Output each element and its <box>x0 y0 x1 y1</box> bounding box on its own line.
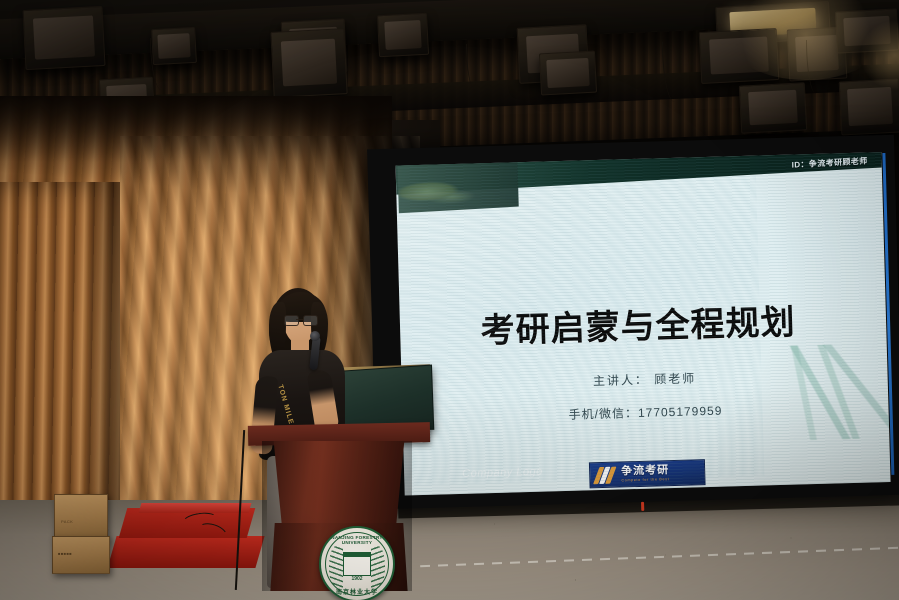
slide-brand-logo: 争流考研 Compete for the Best <box>589 459 706 488</box>
stage-light-4 <box>270 28 347 98</box>
stage-light-5 <box>377 13 429 58</box>
emblem-building-icon <box>343 552 371 576</box>
brand-logo-mark-icon <box>595 466 617 485</box>
screen-indicator-led <box>641 502 644 511</box>
university-emblem: NANJING FORESTRY UNIVERSITY 1902 南京林业大学 <box>319 526 395 600</box>
stage-light-8 <box>835 8 899 53</box>
slide-watermark: Company Logo <box>462 466 543 480</box>
cardboard-box-lower: ■■■■■ <box>52 536 110 574</box>
slide-bamboo-graphic <box>747 343 891 442</box>
step-carpet-edge <box>139 503 252 513</box>
stage-light-10 <box>739 82 807 133</box>
stage-step-lower <box>107 536 264 568</box>
stage-light-1 <box>22 6 105 70</box>
led-screen-frame: ID：争流考研顾老师 考研启蒙与全程规划 主讲人： 顾老师 手机/微信：1770… <box>367 135 899 510</box>
microphone-head <box>310 331 320 341</box>
moving-head-light-1 <box>539 51 597 96</box>
stage-presentation-photo: PACK ■■■■■ ID：争流考研顾老师 考研启蒙与全程规划 主讲人： 顾老师… <box>0 0 899 600</box>
eyeglasses <box>283 315 317 324</box>
emblem-arc-text: NANJING FORESTRY UNIVERSITY <box>321 535 393 545</box>
slide-header-leaf-photo <box>398 159 519 214</box>
brand-logo-cn: 争流考研 <box>621 465 669 477</box>
emblem-chinese-name: 南京林业大学 <box>321 587 393 596</box>
stage-light-7 <box>699 28 780 84</box>
brand-logo-en: Compete for the Best <box>621 478 669 483</box>
podium-body <box>268 441 410 529</box>
stage-light-11 <box>839 78 899 135</box>
presentation-slide: ID：争流考研顾老师 考研启蒙与全程规划 主讲人： 顾老师 手机/微信：1770… <box>396 152 891 495</box>
cardboard-box-upper: PACK <box>54 494 108 540</box>
emblem-year: 1902 <box>321 576 393 582</box>
